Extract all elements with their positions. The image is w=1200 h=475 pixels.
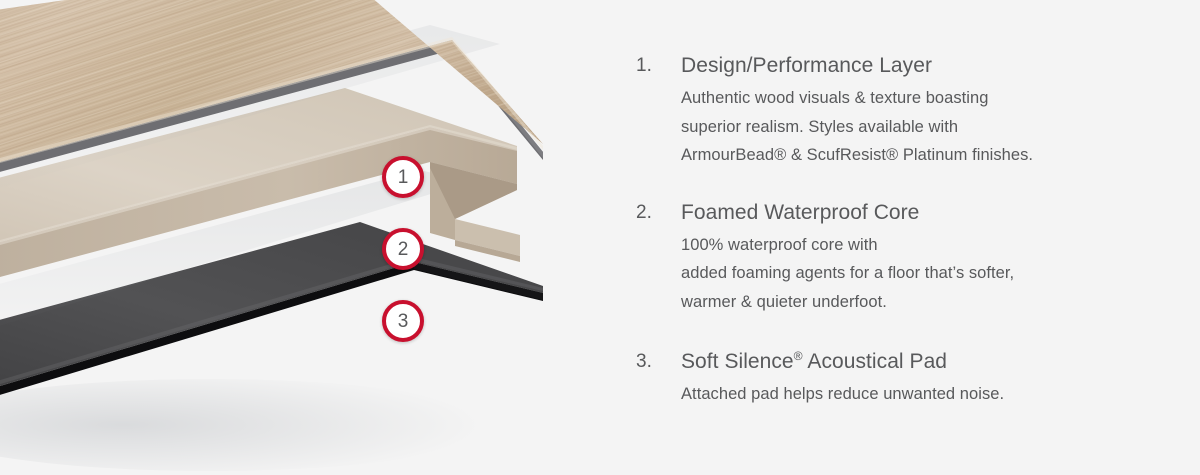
list-item-3-title-main: Soft Silence (681, 350, 794, 373)
list-item-3-number: 3. (636, 348, 681, 376)
callout-badge-2[interactable]: 2 (382, 228, 424, 270)
list-item-1: 1. Design/Performance Layer Authentic wo… (636, 52, 1166, 170)
list-item-3-desc-line-1: Attached pad helps reduce unwanted noise… (681, 380, 1166, 409)
list-item-1-body: Design/Performance Layer Authentic wood … (681, 52, 1166, 170)
callout-badge-3-label: 3 (398, 312, 409, 331)
list-item-1-number: 1. (636, 52, 681, 80)
list-item-3-title: Soft Silence® Acoustical Pad (681, 348, 1166, 376)
list-item-3-description: Attached pad helps reduce unwanted noise… (681, 380, 1166, 409)
list-item-1-title: Design/Performance Layer (681, 52, 1166, 80)
list-item-3: 3. Soft Silence® Acoustical Pad Attached… (636, 348, 1166, 409)
layer-description-list: 1. Design/Performance Layer Authentic wo… (636, 52, 1166, 409)
list-item-2-number: 2. (636, 199, 681, 227)
callout-badge-3[interactable]: 3 (382, 300, 424, 342)
list-item-2-title: Foamed Waterproof Core (681, 199, 1166, 227)
callout-badge-1-label: 1 (398, 168, 409, 187)
list-item-2-desc-line-1: 100% waterproof core with (681, 231, 1166, 260)
flooring-layer-diagram: 1 2 3 1. Design/Performance Layer Authen… (0, 0, 1200, 475)
list-item-2-desc-line-2: added foaming agents for a floor that’s … (681, 259, 1166, 288)
callout-badge-1[interactable]: 1 (382, 156, 424, 198)
list-item-3-title-rest: Acoustical Pad (803, 350, 947, 373)
list-item-3-body: Soft Silence® Acoustical Pad Attached pa… (681, 348, 1166, 409)
list-item-1-desc-line-3: ArmourBead® & ScufResist® Platinum finis… (681, 141, 1166, 170)
list-item-1-desc-line-2: superior realism. Styles available with (681, 113, 1166, 142)
list-item-2: 2. Foamed Waterproof Core 100% waterproo… (636, 199, 1166, 317)
registered-trademark-icon: ® (794, 349, 803, 363)
list-item-1-desc-line-1: Authentic wood visuals & texture boastin… (681, 84, 1166, 113)
exploded-flooring-illustration (0, 0, 600, 475)
callout-badge-2-label: 2 (398, 240, 409, 259)
list-item-1-description: Authentic wood visuals & texture boastin… (681, 84, 1166, 170)
list-item-2-description: 100% waterproof core with added foaming … (681, 231, 1166, 317)
list-item-2-desc-line-3: warmer & quieter underfoot. (681, 288, 1166, 317)
list-item-2-body: Foamed Waterproof Core 100% waterproof c… (681, 199, 1166, 317)
